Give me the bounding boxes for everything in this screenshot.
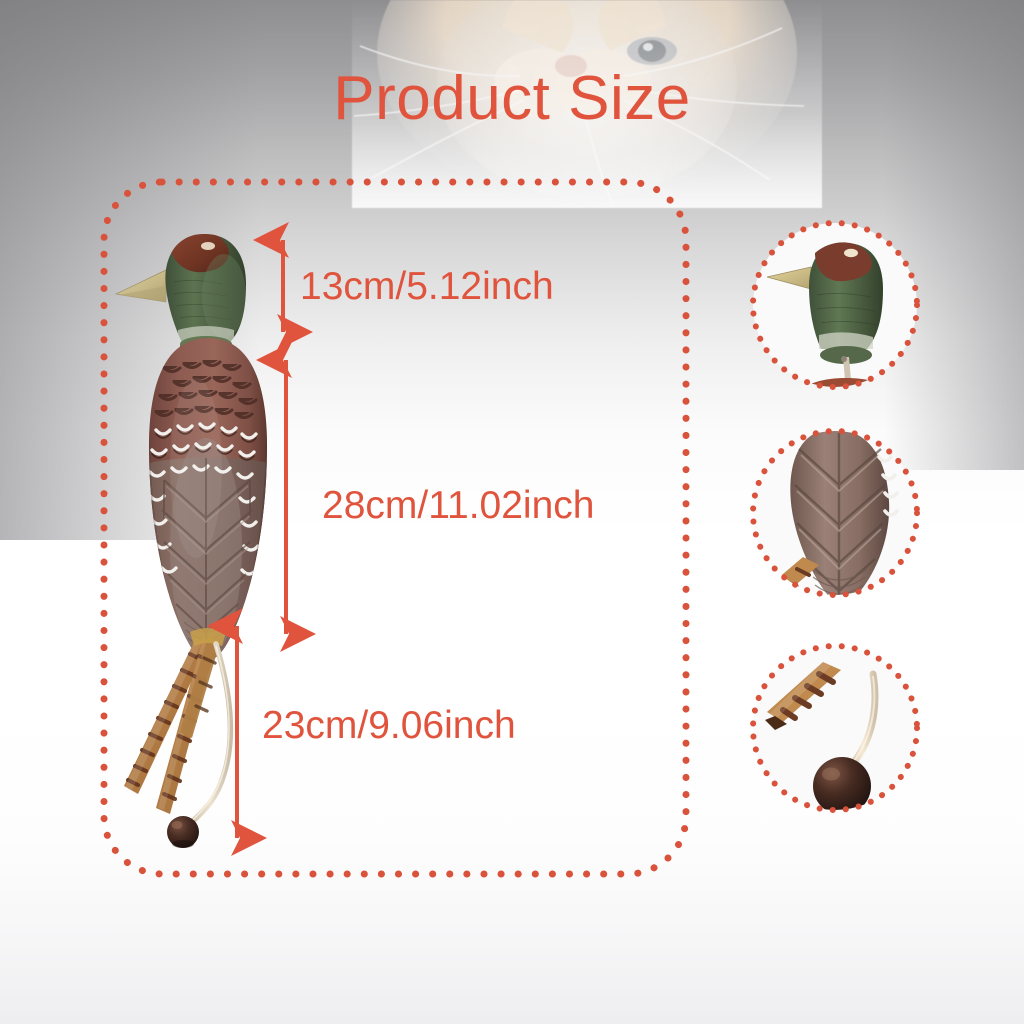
detail-inset-ball (745, 638, 925, 818)
product-tail-feathers (124, 628, 226, 814)
detail-inset-body (745, 423, 925, 603)
detail-inset-head (745, 215, 925, 395)
product-body (134, 338, 284, 668)
page-title: Product Size (0, 68, 1024, 130)
product-illustration (104, 218, 314, 848)
infographic-canvas: Product Size (0, 0, 1024, 1024)
